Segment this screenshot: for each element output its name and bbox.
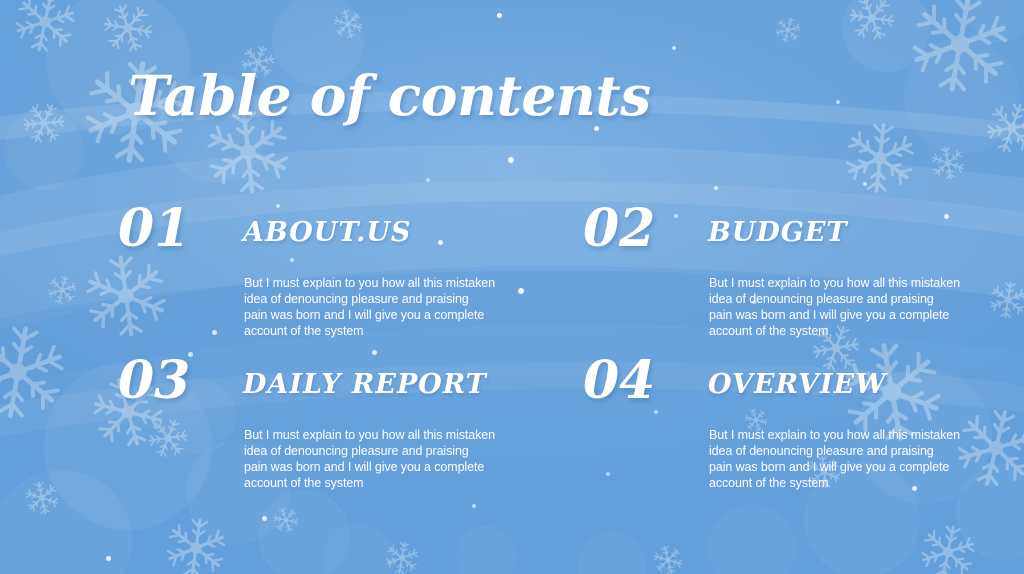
toc-item-heading[interactable]: DAILY REPORT (243, 369, 487, 400)
slide-table-of-contents: Table of contents 01 ABOUT.US But I must… (0, 0, 1024, 574)
toc-item-04[interactable]: 04 OVERVIEW But I must explain to you ho… (583, 355, 1013, 505)
toc-item-number: 02 (583, 203, 655, 255)
toc-item-body: But I must explain to you how all this m… (244, 275, 544, 339)
toc-item-heading[interactable]: OVERVIEW (708, 369, 887, 400)
toc-item-number: 01 (118, 203, 190, 255)
toc-item-02[interactable]: 02 BUDGET But I must explain to you how … (583, 203, 1013, 353)
toc-item-number: 03 (118, 355, 190, 407)
toc-item-03[interactable]: 03 DAILY REPORT But I must explain to yo… (118, 355, 548, 505)
page-title: Table of contents (128, 63, 651, 128)
toc-item-body: But I must explain to you how all this m… (244, 427, 544, 491)
toc-item-body: But I must explain to you how all this m… (709, 275, 1009, 339)
toc-item-number: 04 (583, 355, 655, 407)
toc-item-body: But I must explain to you how all this m… (709, 427, 1009, 491)
slide-content: Table of contents 01 ABOUT.US But I must… (0, 0, 1024, 574)
toc-item-heading[interactable]: ABOUT.US (243, 217, 411, 248)
toc-item-01[interactable]: 01 ABOUT.US But I must explain to you ho… (118, 203, 548, 353)
toc-item-heading[interactable]: BUDGET (708, 217, 848, 248)
